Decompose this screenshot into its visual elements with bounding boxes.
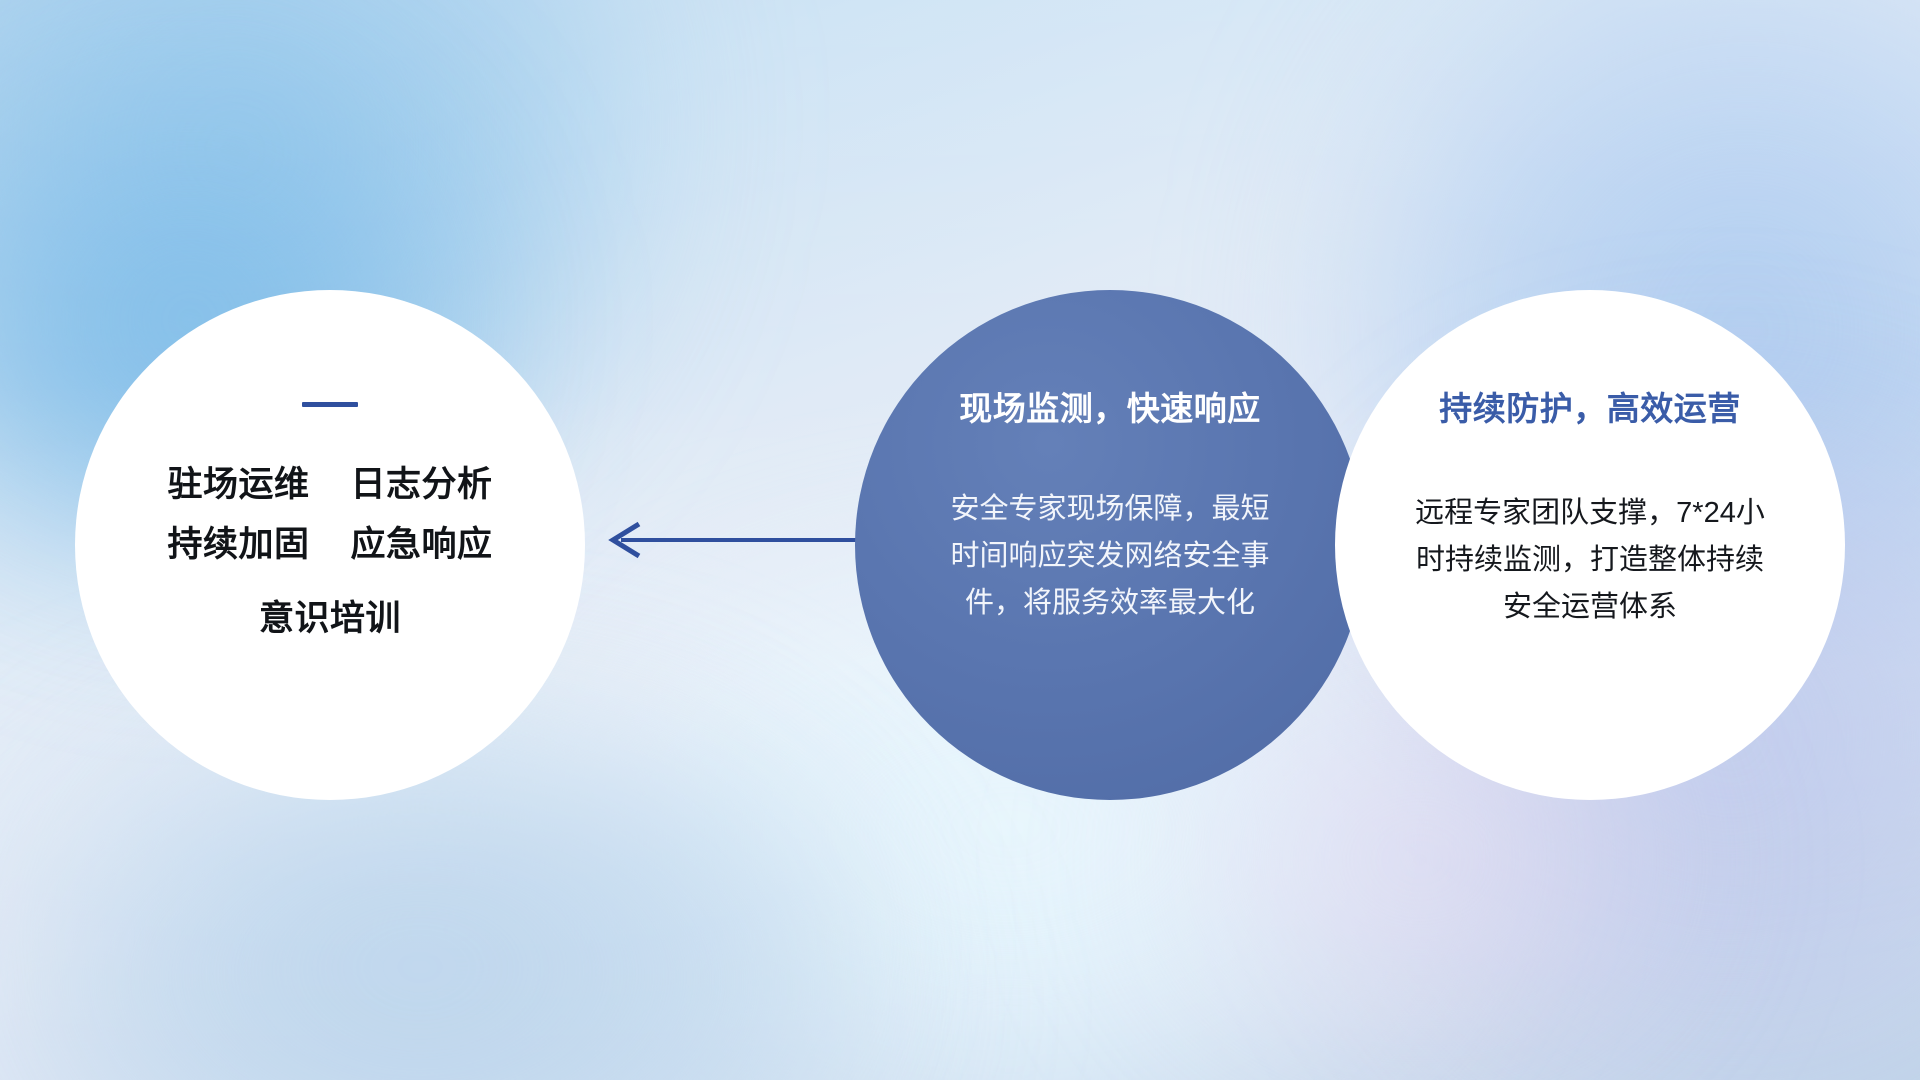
capability-line: 意识培训	[75, 589, 585, 649]
node-remote-operations[interactable]: 持续防护，高效运营 远程专家团队支撑，7*24小时持续监测，打造整体持续安全运营…	[1335, 290, 1845, 800]
node-title: 现场监测，快速响应	[959, 382, 1261, 430]
node-body-text: 远程专家团队支撑，7*24小时持续监测，打造整体持续安全运营体系	[1405, 490, 1775, 631]
capability-list: 驻场运维 日志分析 持续加固 应急响应 意识培训	[75, 455, 585, 650]
node-title: 持续防护，高效运营	[1439, 382, 1741, 430]
capability-line: 持续加固 应急响应	[75, 515, 585, 575]
node-capabilities[interactable]: 驻场运维 日志分析 持续加固 应急响应 意识培训	[75, 290, 585, 800]
capability-line: 驻场运维 日志分析	[75, 455, 585, 515]
flow-arrow-left-icon	[595, 515, 885, 565]
node-onsite-monitoring[interactable]: 现场监测，快速响应 安全专家现场保障，最短时间响应突发网络安全事件，将服务效率最…	[855, 290, 1365, 800]
diagram-stage: 驻场运维 日志分析 持续加固 应急响应 意识培训 现场监测，快速响应 安全专家现…	[0, 0, 1920, 1080]
accent-dash-icon	[302, 402, 358, 407]
node-body-text: 安全专家现场保障，最短时间响应突发网络安全事件，将服务效率最大化	[945, 486, 1275, 627]
